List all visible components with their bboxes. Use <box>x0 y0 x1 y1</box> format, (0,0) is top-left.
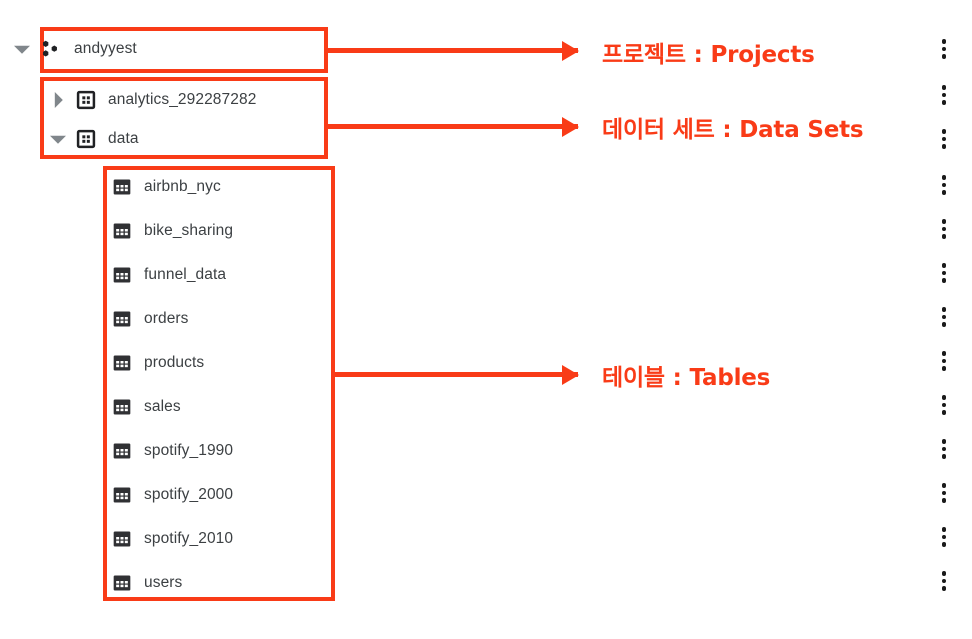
table-name-label: users <box>144 574 182 592</box>
table-icon <box>112 353 132 373</box>
table-icon <box>112 221 132 241</box>
table-icon <box>112 529 132 549</box>
table-name-label: orders <box>144 310 189 328</box>
annotation-tables: 테이블 : Tables <box>602 358 770 392</box>
more-vert-icon[interactable] <box>932 515 956 559</box>
more-vert-icon[interactable] <box>932 73 956 117</box>
tree-row-dataset[interactable]: analytics_292287282 <box>48 78 338 122</box>
chevron-down-icon[interactable] <box>48 129 68 149</box>
table-icon <box>112 177 132 197</box>
dataset-name-label: analytics_292287282 <box>108 91 256 109</box>
arrow-to-projects-label <box>328 48 578 53</box>
more-vert-icon[interactable] <box>932 163 956 207</box>
table-icon <box>112 441 132 461</box>
table-name-label: spotify_2010 <box>144 530 233 548</box>
annotation-datasets: 데이터 세트 : Data Sets <box>602 110 863 144</box>
table-name-label: sales <box>144 398 181 416</box>
more-vert-icon[interactable] <box>932 207 956 251</box>
more-vert-icon[interactable] <box>932 295 956 339</box>
tree-row-table[interactable]: bike_sharing <box>112 209 342 253</box>
tree-row-table[interactable]: sales <box>112 385 342 429</box>
dataset-icon <box>76 129 96 149</box>
table-name-label: funnel_data <box>144 266 226 284</box>
chevron-down-icon[interactable] <box>12 39 32 59</box>
table-name-label: products <box>144 354 204 372</box>
more-vert-icon[interactable] <box>932 251 956 295</box>
dataset-icon <box>76 90 96 110</box>
tree-row-dataset[interactable]: data <box>48 117 338 161</box>
table-icon <box>112 265 132 285</box>
table-icon <box>112 309 132 329</box>
tree-row-table[interactable]: products <box>112 341 342 385</box>
chevron-right-icon[interactable] <box>48 90 68 110</box>
tree-row-table[interactable]: funnel_data <box>112 253 342 297</box>
more-vert-icon[interactable] <box>932 383 956 427</box>
resource-tree-canvas: 프로젝트 : Projects 데이터 세트 : Data Sets 테이블 :… <box>0 0 972 639</box>
table-icon <box>112 485 132 505</box>
more-vert-icon[interactable] <box>932 559 956 603</box>
table-name-label: airbnb_nyc <box>144 178 221 196</box>
tree-row-table[interactable]: spotify_2010 <box>112 517 342 561</box>
table-name-label: bike_sharing <box>144 222 233 240</box>
arrow-to-datasets-label <box>328 124 578 129</box>
annotation-projects: 프로젝트 : Projects <box>602 35 815 69</box>
table-name-label: spotify_1990 <box>144 442 233 460</box>
table-icon <box>112 573 132 593</box>
more-vert-icon[interactable] <box>932 471 956 515</box>
arrow-to-tables-label <box>335 372 578 377</box>
more-vert-icon[interactable] <box>932 117 956 161</box>
tree-row-table[interactable]: airbnb_nyc <box>112 165 342 209</box>
more-vert-icon[interactable] <box>932 27 956 71</box>
more-vert-icon[interactable] <box>932 427 956 471</box>
table-name-label: spotify_2000 <box>144 486 233 504</box>
dataset-name-label: data <box>108 130 139 148</box>
table-icon <box>112 397 132 417</box>
tree-row-table[interactable]: orders <box>112 297 342 341</box>
project-hexagons-icon <box>40 38 62 60</box>
more-vert-icon[interactable] <box>932 339 956 383</box>
tree-row-table[interactable]: spotify_2000 <box>112 473 342 517</box>
tree-row-project[interactable]: andyyest <box>12 27 332 71</box>
tree-row-table[interactable]: spotify_1990 <box>112 429 342 473</box>
tree-row-table[interactable]: users <box>112 561 342 605</box>
project-name-label: andyyest <box>74 40 137 58</box>
